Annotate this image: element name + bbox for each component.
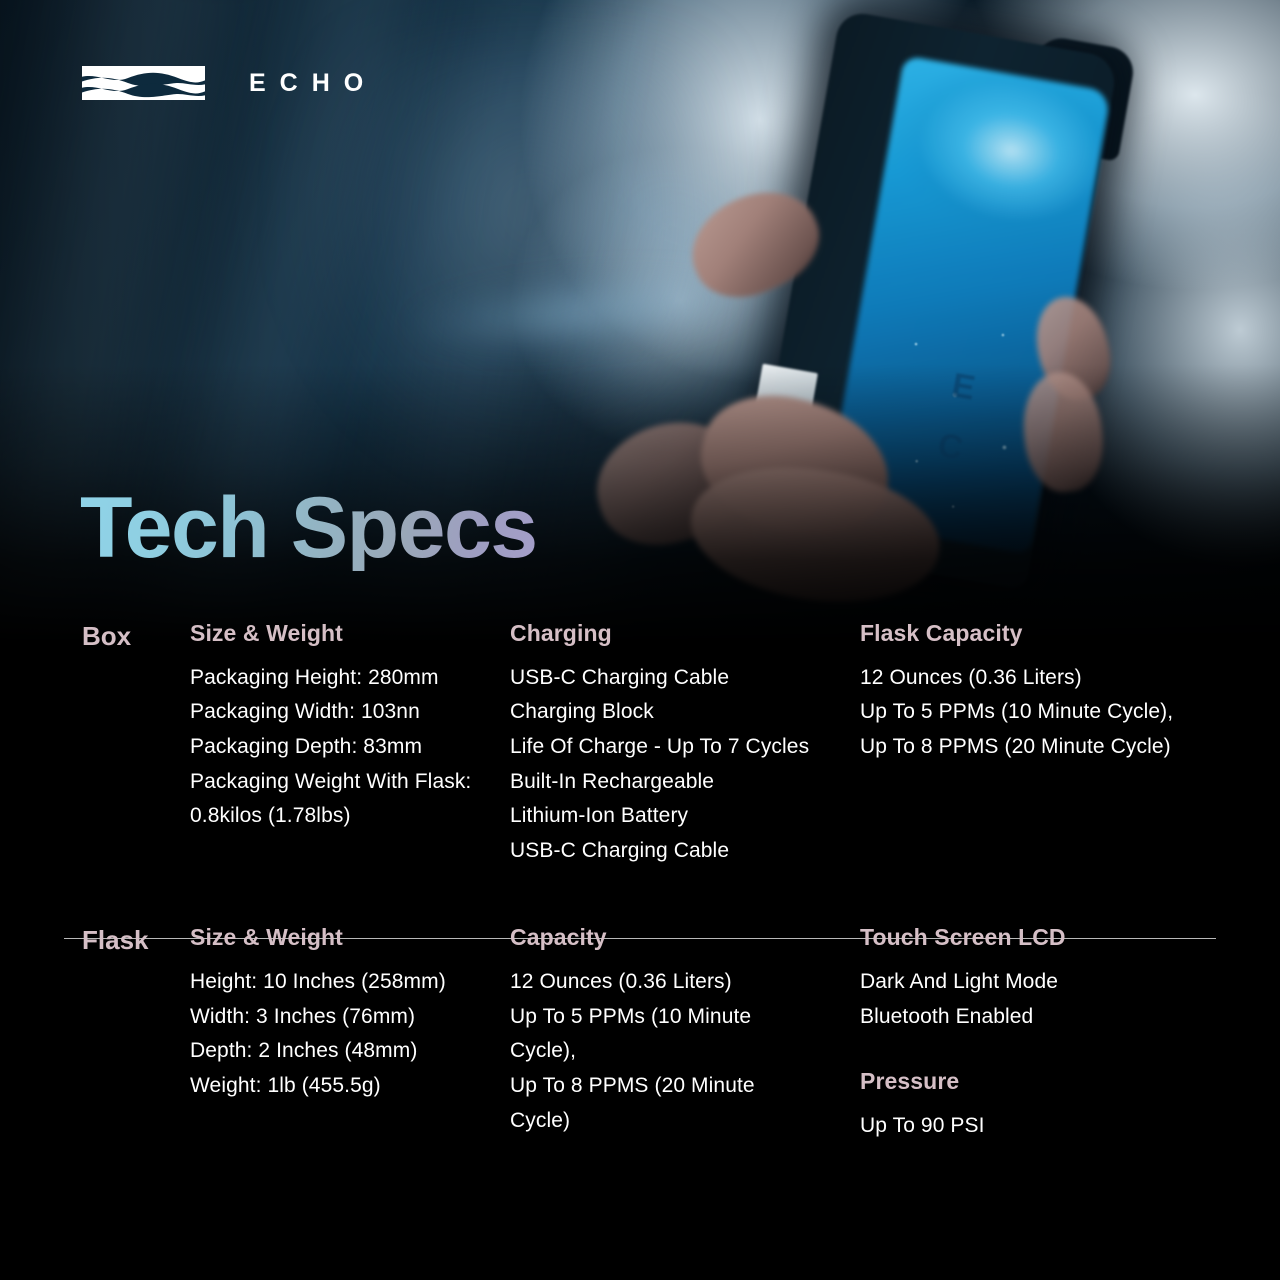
spec-item: Lithium-Ion Battery	[510, 799, 860, 834]
spec-column-charging: Charging USB-C Charging Cable Charging B…	[510, 620, 860, 868]
spec-item: Up To 5 PPMs (10 Minute	[510, 1000, 860, 1035]
spec-section-box: Box Size & Weight Packaging Height: 280m…	[0, 620, 1280, 868]
spec-group-list: Dark And Light Mode Bluetooth Enabled	[860, 965, 1216, 1034]
spec-group-title: Capacity	[510, 924, 860, 952]
spec-group: Size & Weight Height: 10 Inches (258mm) …	[190, 924, 510, 1103]
spec-item: Packaging Depth: 83mm	[190, 730, 510, 765]
spec-row: Box Size & Weight Packaging Height: 280m…	[64, 620, 1216, 868]
wave-logo-icon	[82, 66, 205, 100]
spec-group: Size & Weight Packaging Height: 280mm Pa…	[190, 620, 510, 834]
spec-item: Bluetooth Enabled	[860, 1000, 1216, 1035]
spec-item: Dark And Light Mode	[860, 965, 1216, 1000]
spec-column-size-weight: Size & Weight Height: 10 Inches (258mm) …	[190, 924, 510, 1143]
spec-item: Packaging Weight With Flask:	[190, 765, 510, 800]
spec-item: Depth: 2 Inches (48mm)	[190, 1034, 510, 1069]
hero-product-photo: E C	[0, 0, 1280, 700]
spec-group-title: Charging	[510, 620, 860, 648]
hero-fade-overlay	[0, 0, 1280, 700]
spec-column-touch-screen: Touch Screen LCD Dark And Light Mode Blu…	[860, 924, 1216, 1143]
spec-group-title: Size & Weight	[190, 620, 510, 648]
spec-row-label-flask: Flask	[64, 924, 190, 956]
spec-item: 0.8kilos (1.78lbs)	[190, 799, 510, 834]
spec-item: Life Of Charge - Up To 7 Cycles	[510, 730, 860, 765]
spec-group-list: 12 Ounces (0.36 Liters) Up To 5 PPMs (10…	[860, 661, 1216, 765]
spec-section-flask: Flask Size & Weight Height: 10 Inches (2…	[0, 924, 1280, 1143]
spec-row-label-box: Box	[64, 620, 190, 652]
spec-item: Packaging Height: 280mm	[190, 661, 510, 696]
spec-item: Up To 5 PPMs (10 Minute Cycle),	[860, 695, 1216, 730]
spec-item: USB-C Charging Cable	[510, 834, 860, 869]
spec-group-list: USB-C Charging Cable Charging Block Life…	[510, 661, 860, 869]
spec-group-list: Up To 90 PSI	[860, 1109, 1216, 1144]
spec-item: Cycle),	[510, 1034, 860, 1069]
spec-group: Charging USB-C Charging Cable Charging B…	[510, 620, 860, 868]
spec-group-list: Height: 10 Inches (258mm) Width: 3 Inche…	[190, 965, 510, 1104]
spec-item: 12 Ounces (0.36 Liters)	[860, 661, 1216, 696]
page-title: Tech Specs	[80, 485, 537, 571]
spec-column-size-weight: Size & Weight Packaging Height: 280mm Pa…	[190, 620, 510, 868]
spec-columns: Size & Weight Height: 10 Inches (258mm) …	[190, 924, 1216, 1143]
spec-group: Touch Screen LCD Dark And Light Mode Blu…	[860, 924, 1216, 1034]
spec-item: Packaging Width: 103nn	[190, 695, 510, 730]
spec-column-capacity: Capacity 12 Ounces (0.36 Liters) Up To 5…	[510, 924, 860, 1143]
spec-item: Height: 10 Inches (258mm)	[190, 965, 510, 1000]
spec-group: Pressure Up To 90 PSI	[860, 1068, 1216, 1143]
spec-group-list: Packaging Height: 280mm Packaging Width:…	[190, 661, 510, 834]
spec-item: Up To 8 PPMS (20 Minute Cycle)	[860, 730, 1216, 765]
spec-item: Up To 90 PSI	[860, 1109, 1216, 1144]
spec-item: Up To 8 PPMS (20 Minute	[510, 1069, 860, 1104]
spec-item: Charging Block	[510, 695, 860, 730]
brand-name: ECHO	[249, 71, 377, 96]
spec-item: Weight: 1lb (455.5g)	[190, 1069, 510, 1104]
spec-column-flask-capacity: Flask Capacity 12 Ounces (0.36 Liters) U…	[860, 620, 1216, 868]
spec-group-title: Flask Capacity	[860, 620, 1216, 648]
spec-group-title: Touch Screen LCD	[860, 924, 1216, 952]
spec-group: Flask Capacity 12 Ounces (0.36 Liters) U…	[860, 620, 1216, 765]
spec-group-title: Size & Weight	[190, 924, 510, 952]
spec-item: USB-C Charging Cable	[510, 661, 860, 696]
spec-item: Cycle)	[510, 1104, 860, 1139]
spec-group-list: 12 Ounces (0.36 Liters) Up To 5 PPMs (10…	[510, 965, 860, 1138]
spec-item: Built-In Rechargeable	[510, 765, 860, 800]
spec-group-title: Pressure	[860, 1068, 1216, 1096]
spec-columns: Size & Weight Packaging Height: 280mm Pa…	[190, 620, 1216, 868]
tech-specs-table: Box Size & Weight Packaging Height: 280m…	[0, 620, 1280, 1144]
spec-group: Capacity 12 Ounces (0.36 Liters) Up To 5…	[510, 924, 860, 1138]
brand-lockup: ECHO	[82, 66, 377, 100]
spec-item: Width: 3 Inches (76mm)	[190, 1000, 510, 1035]
spec-item: 12 Ounces (0.36 Liters)	[510, 965, 860, 1000]
spec-row: Flask Size & Weight Height: 10 Inches (2…	[64, 924, 1216, 1143]
